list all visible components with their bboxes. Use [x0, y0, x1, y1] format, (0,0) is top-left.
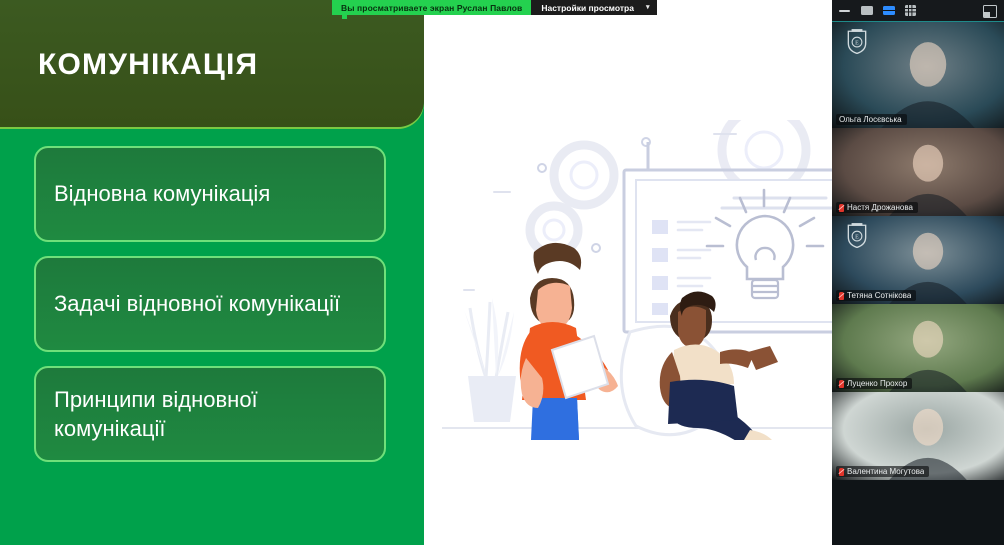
microphone-muted-icon [839, 292, 844, 300]
svg-text:E: E [855, 40, 859, 46]
svg-text:E: E [855, 234, 859, 240]
gallery-view-icon[interactable] [904, 5, 917, 16]
participant-name: Тетяна Сотнікова [847, 291, 911, 300]
filmstrip-toolbar [832, 0, 1004, 22]
zoom-screen-share-window: КОМУНІКАЦІЯ Відновна комунікація Задачі … [0, 0, 1004, 545]
participant-tile[interactable]: EОльга Лосєвська [832, 22, 1004, 128]
microphone-muted-icon [839, 468, 844, 476]
share-notice: Вы просматриваете экран Руслан Павлов [332, 0, 531, 15]
slide-topic-label: Принципи відновної комунікації [54, 385, 368, 443]
slide-topic-item-2: Задачі відновної комунікації [34, 256, 386, 352]
minimize-icon[interactable] [838, 5, 851, 16]
participant-tiles: EОльга ЛосєвськаНастя ДрожановаEТетяна С… [832, 22, 1004, 480]
participant-name-plate: Тетяна Сотнікова [836, 290, 916, 301]
slide-title-bar: КОМУНІКАЦІЯ [0, 0, 424, 127]
slide-topic-item-1: Відновна комунікація [34, 146, 386, 242]
view-options-button[interactable]: Настройки просмотра ▾ [531, 0, 657, 15]
microphone-muted-icon [839, 204, 844, 212]
view-options-label: Настройки просмотра [541, 3, 634, 13]
participant-tile[interactable]: Настя Дрожанова [832, 128, 1004, 216]
screen-share-banner: Вы просматриваете экран Руслан Павлов На… [332, 0, 657, 15]
speaker-view-icon[interactable] [860, 5, 873, 16]
participant-name: Настя Дрожанова [847, 203, 913, 212]
university-logo-icon: E [846, 28, 868, 54]
slide-topic-label: Задачі відновної комунікації [54, 289, 340, 318]
participant-name-plate: Валентина Могутова [836, 466, 929, 477]
participant-tile[interactable]: Валентина Могутова [832, 392, 1004, 480]
slide-topic-item-3: Принципи відновної комунікації [34, 366, 386, 462]
banner-notch [342, 15, 347, 19]
participant-name-plate: Луценко Прохор [836, 378, 912, 389]
participant-name: Ольга Лосєвська [839, 115, 902, 124]
slide-topic-label: Відновна комунікація [54, 179, 270, 208]
participant-name-plate: Настя Дрожанова [836, 202, 918, 213]
participant-tile[interactable]: EТетяна Сотнікова [832, 216, 1004, 304]
popout-video-icon[interactable] [983, 5, 997, 18]
strip-view-icon[interactable] [882, 5, 895, 16]
page-title: КОМУНІКАЦІЯ [38, 48, 258, 82]
participant-filmstrip: EОльга ЛосєвськаНастя ДрожановаEТетяна С… [832, 0, 1004, 545]
participant-tile[interactable]: Луценко Прохор [832, 304, 1004, 392]
participant-name: Луценко Прохор [847, 379, 907, 388]
university-logo-icon: E [846, 222, 868, 248]
participant-name-plate: Ольга Лосєвська [836, 114, 907, 125]
presentation-slide: КОМУНІКАЦІЯ Відновна комунікація Задачі … [0, 0, 424, 545]
participant-name: Валентина Могутова [847, 467, 924, 476]
chevron-down-icon: ▾ [646, 4, 650, 11]
microphone-muted-icon [839, 380, 844, 388]
